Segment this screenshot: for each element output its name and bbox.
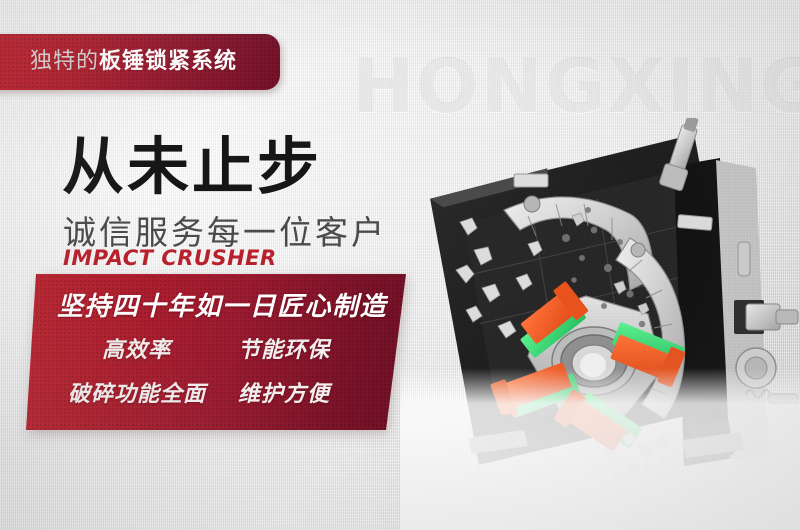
ribbon-label: 独特的板锤锁紧系统 (30, 34, 237, 90)
ribbon-label-bright: 板锤锁紧系统 (99, 49, 237, 74)
top-ribbon: 独特的板锤锁紧系统 (0, 34, 280, 90)
english-subtitle: IMPACT CRUSHER (63, 246, 277, 270)
feature-panel-title: 坚持四十年如一日匠心制造 (57, 286, 387, 323)
page-title: 从未止步 (62, 116, 322, 206)
feature-item-1: 节能环保 (238, 332, 330, 364)
impact-crusher-illustration (416, 118, 800, 504)
ribbon-label-dim: 独特的 (30, 49, 99, 74)
feature-panel: 坚持四十年如一日匠心制造 高效率 节能环保 破碎功能全面 维护方便 (0, 272, 420, 438)
feature-item-3: 维护方便 (238, 376, 330, 408)
promo-banner: HONGXING (0, 0, 800, 530)
feature-item-2: 破碎功能全面 (68, 376, 206, 408)
feature-item-0: 高效率 (102, 332, 171, 364)
